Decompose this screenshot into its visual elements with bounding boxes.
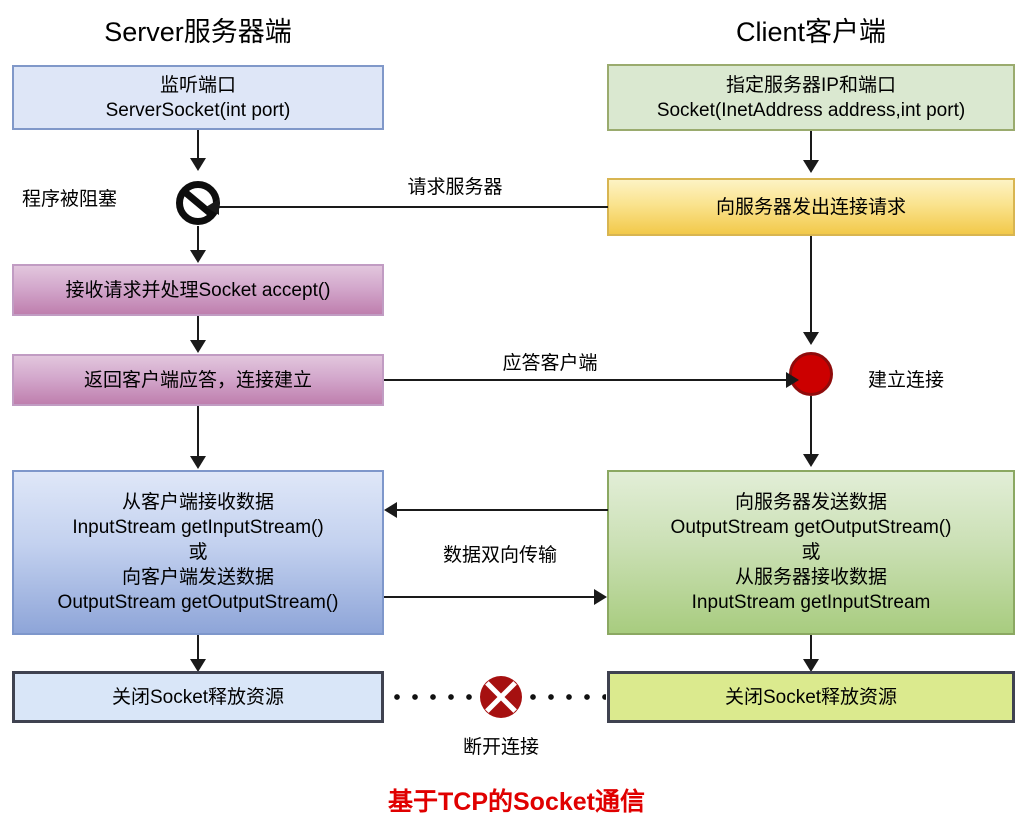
arrowhead-dot-to-client-io <box>803 454 819 467</box>
label-program-blocked: 程序被阻塞 <box>22 184 167 211</box>
red-x-circle-icon <box>480 676 522 718</box>
client-io-line1: 向服务器发送数据 <box>735 490 887 515</box>
arrowhead-transfer-to-client <box>594 589 607 605</box>
client-create-line1: 指定服务器IP和端口 <box>726 73 896 98</box>
server-node-accept[interactable]: 接收请求并处理Socket accept() <box>12 264 384 316</box>
label-reply-client: 应答客户端 <box>470 348 630 375</box>
arrowhead-transfer-to-server <box>384 502 397 518</box>
label-request-server: 请求服务器 <box>385 172 525 199</box>
connector-disconnect-left <box>388 694 480 700</box>
client-io-line2: OutputStream getOutputStream() <box>671 515 952 540</box>
arrowhead-accept-to-respond <box>190 340 206 353</box>
label-bidirectional-transfer: 数据双向传输 <box>424 540 576 567</box>
client-column-title: Client客户端 <box>607 10 1015 49</box>
client-close-line1: 关闭Socket释放资源 <box>725 685 897 710</box>
client-node-close[interactable]: 关闭Socket释放资源 <box>607 671 1015 723</box>
arrowhead-connect-to-dot <box>803 332 819 345</box>
connector-connect-to-dot <box>810 236 812 336</box>
diagram-canvas: Server服务器端 Client客户端 监听端口 ServerSocket(i… <box>0 0 1033 816</box>
label-disconnect: 断开连接 <box>431 732 571 759</box>
connector-reply-client <box>384 379 794 381</box>
server-listen-line2: ServerSocket(int port) <box>106 98 291 123</box>
server-listen-line1: 监听端口 <box>160 73 236 98</box>
server-respond-line1: 返回客户端应答，连接建立 <box>84 368 312 393</box>
arrowhead-respond-to-io <box>190 456 206 469</box>
server-accept-line1: 接收请求并处理Socket accept() <box>66 278 331 303</box>
server-io-line2: InputStream getInputStream() <box>72 515 323 540</box>
client-create-line2: Socket(InetAddress address,int port) <box>657 98 965 123</box>
server-io-line1: 从客户端接收数据 <box>122 490 274 515</box>
footer-title: 基于TCP的Socket通信 <box>0 782 1033 816</box>
arrowhead-create-to-connect <box>803 160 819 173</box>
connector-request-server <box>218 206 608 208</box>
client-connect-line1: 向服务器发出连接请求 <box>716 195 906 220</box>
server-io-line3: 或 <box>188 540 207 565</box>
arrowhead-reply-client <box>786 372 799 388</box>
arrowhead-blocked-to-accept <box>190 250 206 263</box>
server-column-title: Server服务器端 <box>12 10 384 49</box>
client-io-line5: InputStream getInputStream <box>692 590 931 615</box>
client-io-line3: 或 <box>801 540 820 565</box>
client-node-io[interactable]: 向服务器发送数据 OutputStream getOutputStream() … <box>607 470 1015 635</box>
arrowhead-listen-to-blocked <box>190 158 206 171</box>
connector-disconnect-right <box>524 694 606 700</box>
server-io-line5: OutputStream getOutputStream() <box>58 590 339 615</box>
server-close-line1: 关闭Socket释放资源 <box>112 685 284 710</box>
server-io-line4: 向客户端发送数据 <box>122 565 274 590</box>
connector-transfer-to-client <box>384 596 596 598</box>
client-node-connect-request[interactable]: 向服务器发出连接请求 <box>607 178 1015 236</box>
server-node-listen-port[interactable]: 监听端口 ServerSocket(int port) <box>12 65 384 130</box>
server-node-close[interactable]: 关闭Socket释放资源 <box>12 671 384 723</box>
client-io-line4: 从服务器接收数据 <box>735 565 887 590</box>
server-node-io[interactable]: 从客户端接收数据 InputStream getInputStream() 或 … <box>12 470 384 635</box>
client-node-create-socket[interactable]: 指定服务器IP和端口 Socket(InetAddress address,in… <box>607 64 1015 131</box>
label-establish-connection: 建立连接 <box>868 365 988 392</box>
connector-transfer-to-server <box>396 509 608 511</box>
arrowhead-request-server <box>206 199 219 215</box>
connector-dot-to-client-io <box>810 396 812 458</box>
server-node-respond[interactable]: 返回客户端应答，连接建立 <box>12 354 384 406</box>
connector-respond-to-io <box>197 406 199 460</box>
